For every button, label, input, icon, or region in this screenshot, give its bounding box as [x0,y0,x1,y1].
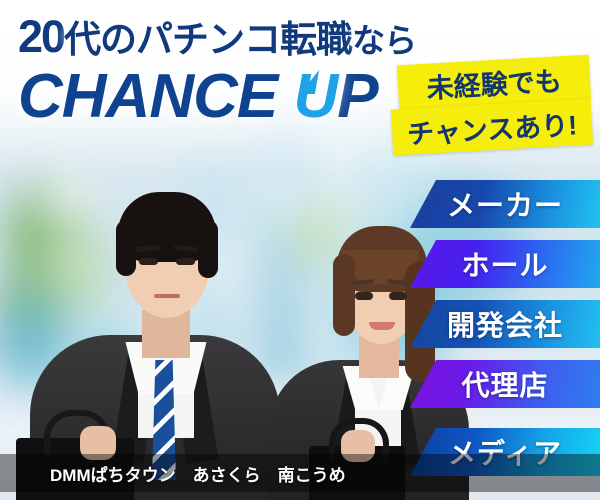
male-eye-right [176,258,195,265]
page-title: 20代のパチンコ転職なら [18,14,438,59]
male-mouth [154,294,180,298]
badge-label-2: チャンスあり! [406,103,578,151]
recruitment-banner: 20代のパチンコ転職なら CHANCE UP 未経験でも チャンスあり! メーカ… [0,0,600,500]
category-label-maker: メーカー [447,184,563,224]
female-eye-right [389,292,407,300]
category-label-agency: 代理店 [461,364,548,404]
category-button-agency[interactable]: 代理店 [410,360,600,408]
headline-main: 代のパチンコ転職 [64,19,352,60]
male-hair-side-left [116,220,136,276]
brand-logo: CHANCE UP [18,66,378,128]
credit-text: DMMぱちタウン あさくら 南こうめ [50,461,346,486]
category-label-developer: 開発会社 [447,304,563,344]
logo-chance-text: CHANCE [18,62,277,131]
person-male [20,170,290,500]
headline-tail: なら [352,22,416,59]
female-hair-left-strand [333,254,355,336]
category-button-developer[interactable]: 開発会社 [410,300,600,348]
female-eye-left [355,292,373,300]
male-hair-side-right [198,220,218,278]
badge-label-1: 未経験でも [426,59,563,105]
male-eye-left [139,258,158,265]
category-label-hall: ホール [461,244,548,284]
logo-up-p: P [337,62,377,131]
category-button-hall[interactable]: ホール [410,240,600,288]
category-button-maker[interactable]: メーカー [410,180,600,228]
female-mouth [369,322,395,330]
headline-number: 20 [18,11,64,62]
